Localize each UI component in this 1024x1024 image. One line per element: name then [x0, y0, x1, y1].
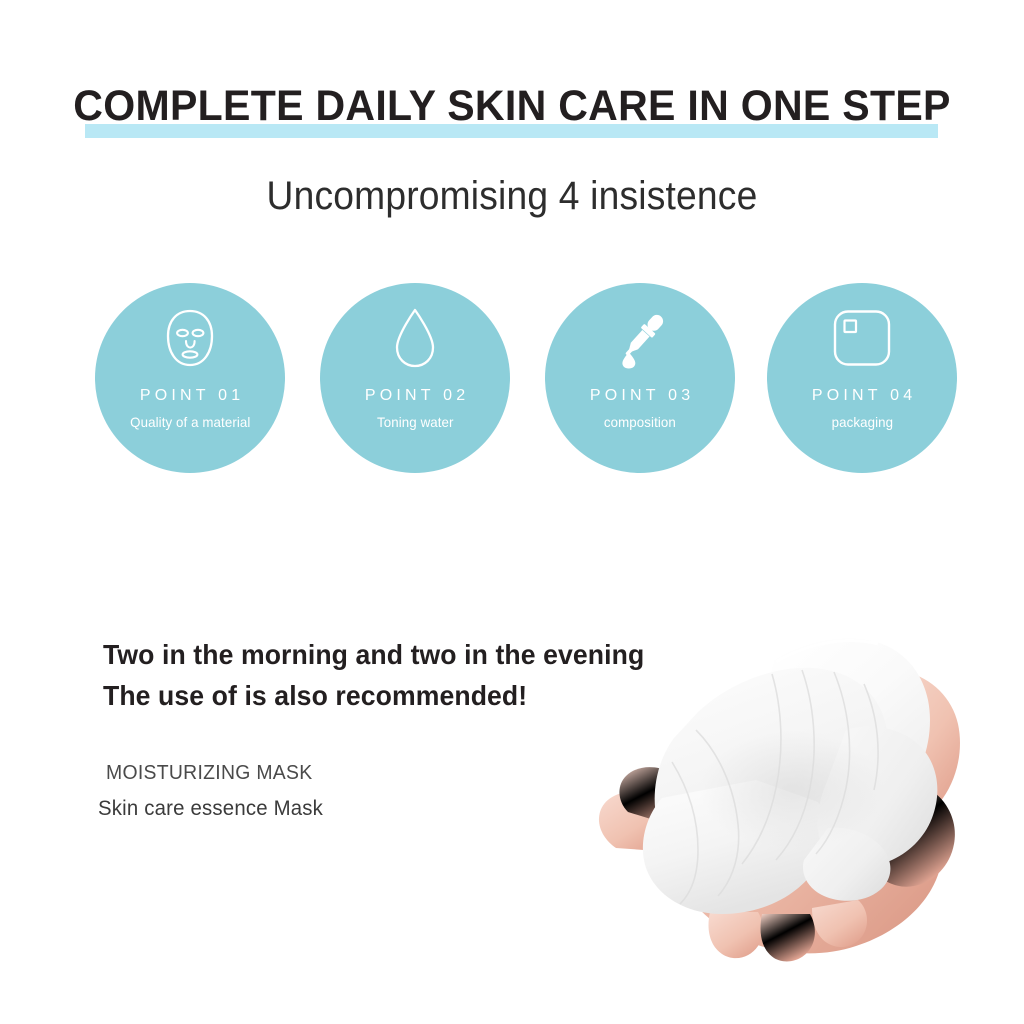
point-title: POINT 03	[586, 387, 695, 405]
point-card-04[interactable]: POINT 04 packaging	[767, 283, 957, 473]
finger-bottom-2	[761, 914, 815, 961]
mask-shading	[700, 730, 884, 850]
face-sheet-mask-icon	[158, 307, 222, 369]
point-card-03[interactable]: POINT 03 composition	[545, 283, 735, 473]
point-subtitle: packaging	[831, 414, 892, 430]
point-card-02[interactable]: POINT 02 Toning water	[320, 283, 510, 473]
point-title: POINT 02	[361, 387, 470, 405]
product-photo	[576, 612, 996, 1012]
point-subtitle: Quality of a material	[130, 414, 250, 430]
point-subtitle: Toning water	[377, 414, 454, 430]
finger-bottom-1	[709, 912, 763, 958]
page-title: COMPLETE DAILY SKIN CARE IN ONE STEP	[23, 80, 1001, 132]
point-title: POINT 04	[808, 387, 917, 405]
point-title: POINT 01	[136, 387, 245, 405]
product-marketing-page: COMPLETE DAILY SKIN CARE IN ONE STEP Unc…	[0, 0, 1024, 1024]
product-name-block: MOISTURIZING MASK Skin care essence Mask	[98, 758, 518, 824]
point-subtitle: composition	[604, 414, 676, 430]
pouch-package-icon	[830, 307, 894, 369]
product-name-primary: MOISTURIZING MASK	[106, 758, 506, 788]
dropper-pipette-icon	[608, 307, 672, 369]
product-name-secondary: Skin care essence Mask	[98, 794, 505, 824]
points-row: POINT 01 Quality of a material POINT 02 …	[0, 283, 1024, 483]
headline-section: COMPLETE DAILY SKIN CARE IN ONE STEP	[0, 80, 1024, 142]
point-card-01[interactable]: POINT 01 Quality of a material	[95, 283, 285, 473]
page-subtitle: Uncompromising 4 insistence	[36, 172, 988, 220]
water-drop-icon	[383, 307, 447, 369]
